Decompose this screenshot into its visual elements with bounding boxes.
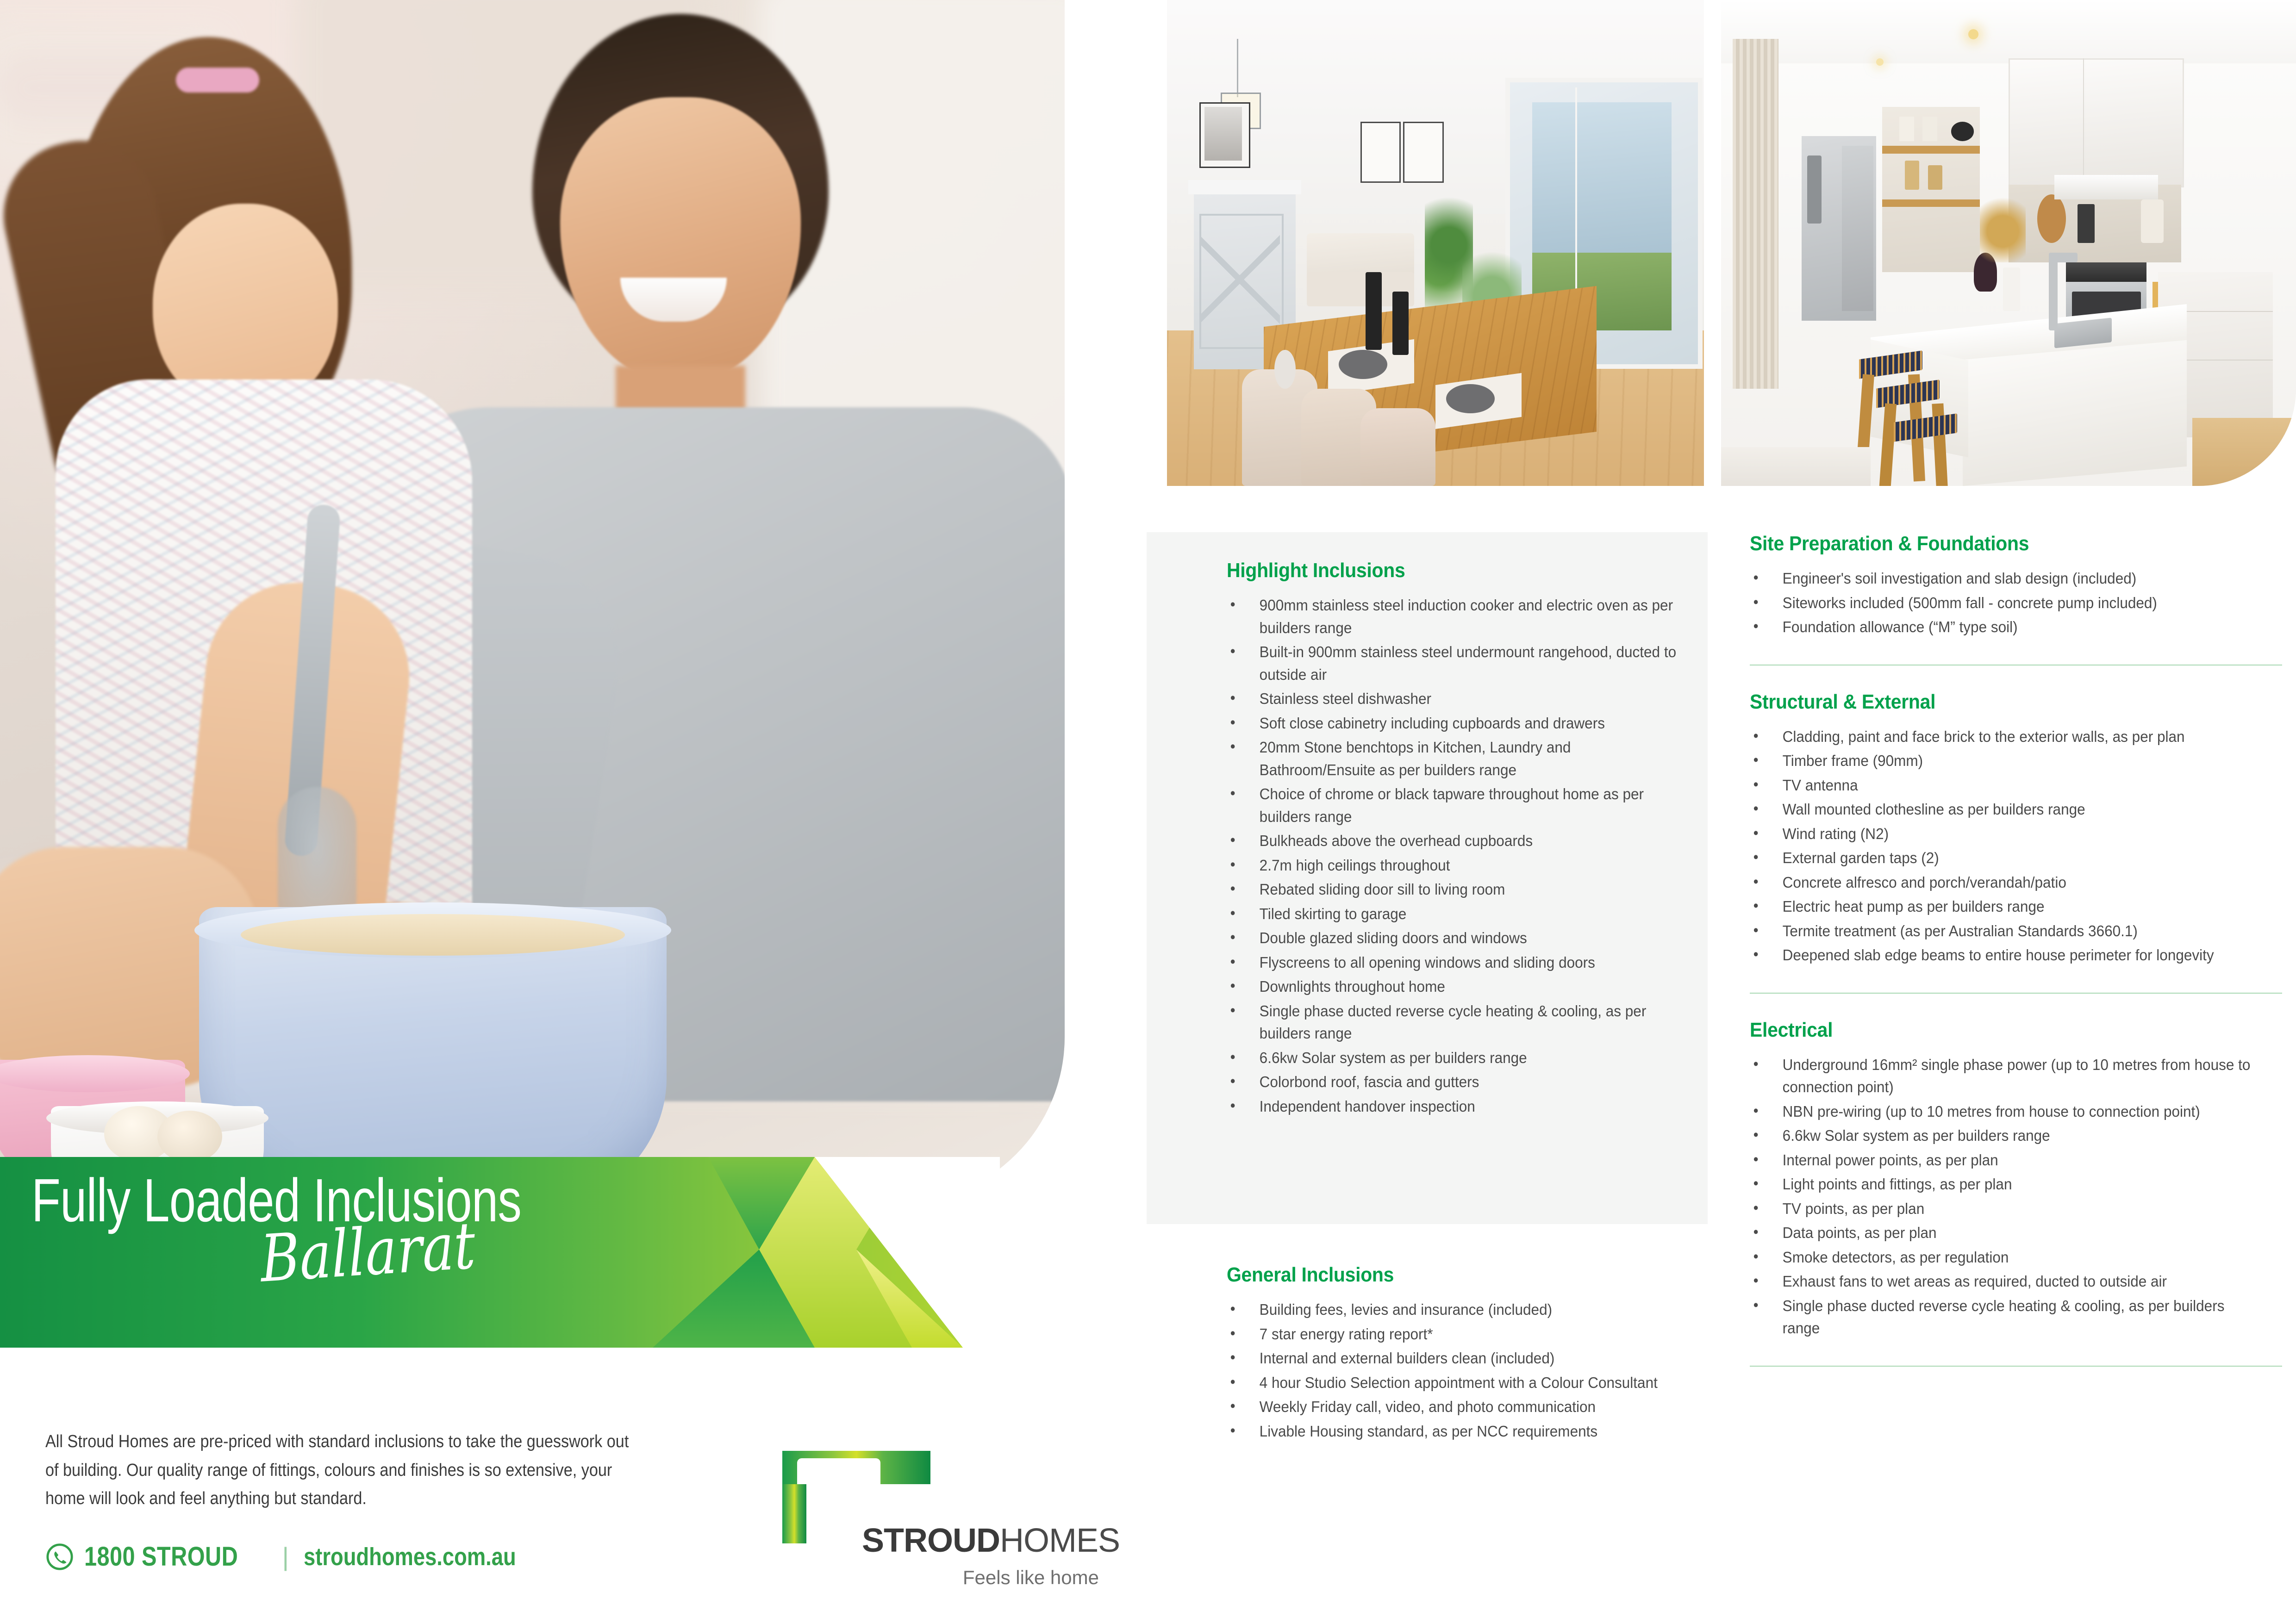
logo-wordmark: STROUDHOMES bbox=[862, 1524, 1120, 1557]
electrical-list: Underground 16mm² single phase power (up… bbox=[1750, 1054, 2282, 1340]
list-item: Exhaust fans to wet areas as required, d… bbox=[1750, 1270, 2258, 1293]
structural-external-list: Cladding, paint and face brick to the ex… bbox=[1750, 726, 2282, 967]
stroud-homes-logo[interactable]: STROUDHOMES Feels like home bbox=[782, 1451, 1102, 1590]
list-item: Engineer's soil investigation and slab d… bbox=[1750, 567, 2258, 590]
section-divider bbox=[1750, 1366, 2282, 1367]
list-item: Single phase ducted reverse cycle heatin… bbox=[1750, 1295, 2258, 1340]
list-item: Choice of chrome or black tapware throug… bbox=[1227, 783, 1678, 828]
section-title: Structural & External bbox=[1750, 690, 2245, 714]
list-item: Soft close cabinetry including cupboards… bbox=[1227, 712, 1678, 735]
list-item: Double glazed sliding doors and windows bbox=[1227, 927, 1678, 950]
list-item: Timber frame (90mm) bbox=[1750, 750, 2258, 772]
contact-bar: 1800 STROUD | stroudhomes.com.au bbox=[45, 1541, 556, 1572]
list-item: TV points, as per plan bbox=[1750, 1198, 2258, 1220]
list-item: 7 star energy rating report* bbox=[1227, 1323, 1678, 1346]
list-item: Wind rating (N2) bbox=[1750, 823, 2258, 846]
section-divider bbox=[1750, 993, 2282, 994]
list-item: Rebated sliding door sill to living room bbox=[1227, 878, 1678, 901]
list-item: 900mm stainless steel induction cooker a… bbox=[1227, 594, 1678, 639]
list-item: Electric heat pump as per builders range bbox=[1750, 895, 2258, 918]
section-electrical: Electrical Underground 16mm² single phas… bbox=[1750, 1019, 2282, 1340]
list-item: 6.6kw Solar system as per builders range bbox=[1750, 1125, 2258, 1147]
list-item: Weekly Friday call, video, and photo com… bbox=[1227, 1396, 1678, 1418]
list-item: Internal power points, as per plan bbox=[1750, 1149, 2258, 1172]
list-item: 6.6kw Solar system as per builders range bbox=[1227, 1047, 1678, 1070]
list-item: Deepened slab edge beams to entire house… bbox=[1750, 944, 2258, 967]
list-item: Foundation allowance (“M” type soil) bbox=[1750, 616, 2258, 639]
list-item: Built-in 900mm stainless steel undermoun… bbox=[1227, 641, 1678, 686]
list-item: 4 hour Studio Selection appointment with… bbox=[1227, 1372, 1678, 1394]
list-item: Internal and external builders clean (in… bbox=[1227, 1347, 1678, 1370]
list-item: NBN pre-wiring (up to 10 metres from hou… bbox=[1750, 1101, 2258, 1123]
highlight-inclusions-list: 900mm stainless steel induction cooker a… bbox=[1227, 594, 1699, 1118]
list-item: Light points and fittings, as per plan bbox=[1750, 1173, 2258, 1196]
list-item: Smoke detectors, as per regulation bbox=[1750, 1246, 2258, 1269]
site-preparation-list: Engineer's soil investigation and slab d… bbox=[1750, 567, 2282, 639]
list-item: External garden taps (2) bbox=[1750, 847, 2258, 870]
contact-separator: | bbox=[282, 1542, 289, 1572]
list-item: Independent handover inspection bbox=[1227, 1095, 1678, 1118]
section-structural-external: Structural & External Cladding, paint an… bbox=[1750, 690, 2282, 967]
list-item: Building fees, levies and insurance (inc… bbox=[1227, 1299, 1678, 1321]
list-item: Colorbond roof, fascia and gutters bbox=[1227, 1071, 1678, 1094]
list-item: TV antenna bbox=[1750, 774, 2258, 797]
logo-homes-text: HOMES bbox=[1000, 1522, 1120, 1559]
list-item: Flyscreens to all opening windows and sl… bbox=[1227, 951, 1678, 974]
list-item: Wall mounted clothesline as per builders… bbox=[1750, 798, 2258, 821]
logo-stroud-text: STROUD bbox=[862, 1522, 1000, 1559]
section-site-preparation-foundations: Site Preparation & Foundations Engineer'… bbox=[1750, 532, 2282, 639]
list-item: Single phase ducted reverse cycle heatin… bbox=[1227, 1000, 1678, 1045]
section-title: Highlight Inclusions bbox=[1227, 559, 1666, 582]
list-item: Siteworks included (500mm fall - concret… bbox=[1750, 592, 2258, 615]
phone-number[interactable]: 1800 STROUD bbox=[84, 1541, 238, 1572]
banner-subtitle: Ballarat bbox=[259, 1213, 477, 1292]
list-item: Bulkheads above the overhead cupboards bbox=[1227, 830, 1678, 852]
hero-family-baking-photo bbox=[0, 0, 1065, 1203]
section-title: Site Preparation & Foundations bbox=[1750, 532, 2245, 555]
list-item: Livable Housing standard, as per NCC req… bbox=[1227, 1420, 1678, 1443]
website-link[interactable]: stroudhomes.com.au bbox=[304, 1542, 516, 1571]
list-item: Concrete alfresco and porch/verandah/pat… bbox=[1750, 871, 2258, 894]
kitchen-island-interior-photo bbox=[1721, 0, 2296, 486]
general-inclusions-list: Building fees, levies and insurance (inc… bbox=[1227, 1299, 1699, 1443]
list-item: Underground 16mm² single phase power (up… bbox=[1750, 1054, 2258, 1099]
list-item: 20mm Stone benchtops in Kitchen, Laundry… bbox=[1227, 736, 1678, 781]
title-banner: Fully Loaded Inclusions Ballarat bbox=[0, 1157, 1000, 1348]
section-divider bbox=[1750, 665, 2282, 665]
section-general-inclusions: General Inclusions Building fees, levies… bbox=[1227, 1263, 1699, 1444]
list-item: Downlights throughout home bbox=[1227, 976, 1678, 998]
section-highlight-inclusions: Highlight Inclusions 900mm stainless ste… bbox=[1227, 559, 1699, 1119]
dining-living-interior-photo bbox=[1167, 0, 1704, 486]
right-column: Site Preparation & Foundations Engineer'… bbox=[1750, 532, 2282, 1367]
list-item: Stainless steel dishwasher bbox=[1227, 688, 1678, 710]
phone-circle-icon[interactable] bbox=[45, 1542, 74, 1571]
list-item: 2.7m high ceilings throughout bbox=[1227, 854, 1678, 877]
logo-tagline: Feels like home bbox=[963, 1567, 1099, 1589]
section-title: General Inclusions bbox=[1227, 1263, 1666, 1287]
list-item: Tiled skirting to garage bbox=[1227, 903, 1678, 926]
intro-blurb: All Stroud Homes are pre-priced with sta… bbox=[45, 1428, 637, 1513]
list-item: Data points, as per plan bbox=[1750, 1222, 2258, 1244]
brochure-page: Fully Loaded Inclusions Ballarat All Str… bbox=[0, 0, 2296, 1623]
list-item: Termite treatment (as per Australian Sta… bbox=[1750, 920, 2258, 943]
list-item: Cladding, paint and face brick to the ex… bbox=[1750, 726, 2258, 748]
section-title: Electrical bbox=[1750, 1019, 2245, 1042]
